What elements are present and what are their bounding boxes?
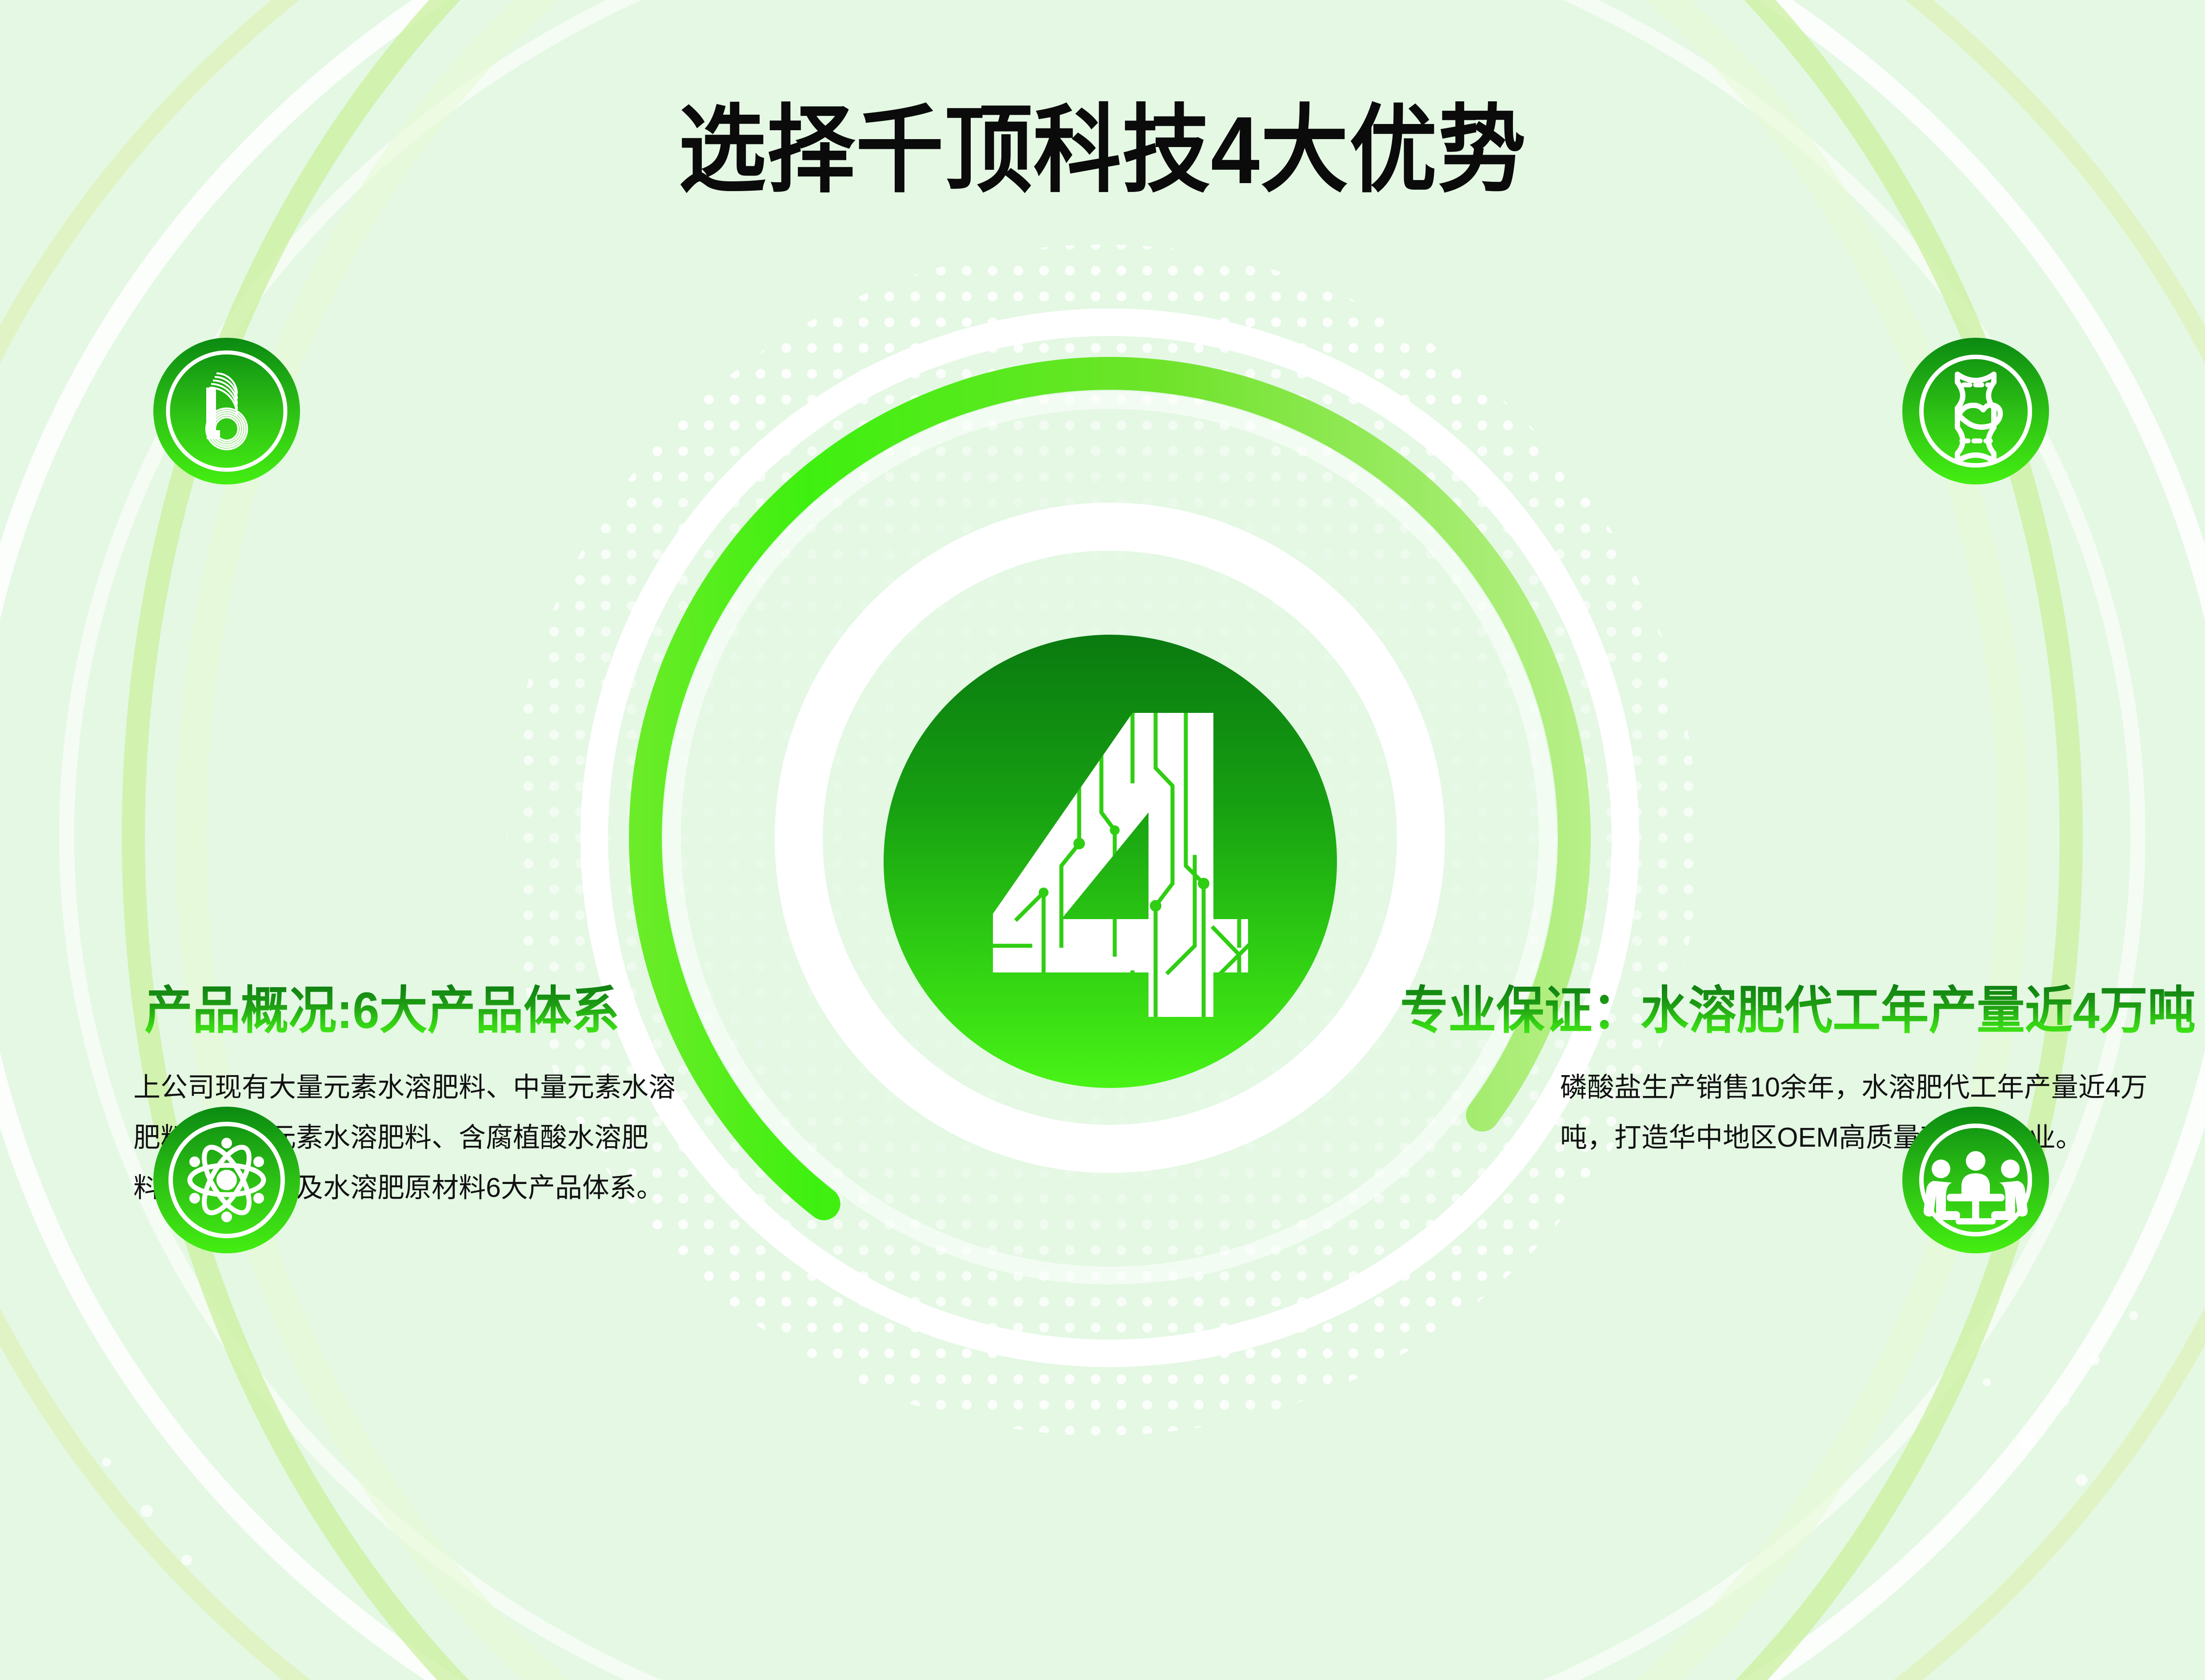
center-medallion (884, 635, 1337, 1088)
infographic-canvas: 选择千顶科技4大优势 (0, 0, 2205, 1680)
page-title: 选择千顶科技4大优势 (88, 100, 2117, 200)
feature-heading: 产品概况:6大产品体系 (144, 982, 620, 1040)
feature-body: 磷酸盐生产销售10余年，水溶肥代工年产量近4万吨，打造华中地区OEM高质量高产量… (1560, 1062, 2191, 1163)
number-4-circuit-icon (884, 635, 1337, 1088)
feature-heading: 专业保证：水溶肥代工年产量近4万吨 (1400, 982, 2196, 1040)
number-6-ripple-icon (153, 338, 300, 484)
meeting-table-icon (1902, 1107, 2049, 1253)
fertilizer-bag-icon (1902, 338, 2049, 484)
atom-icon (153, 1107, 300, 1253)
